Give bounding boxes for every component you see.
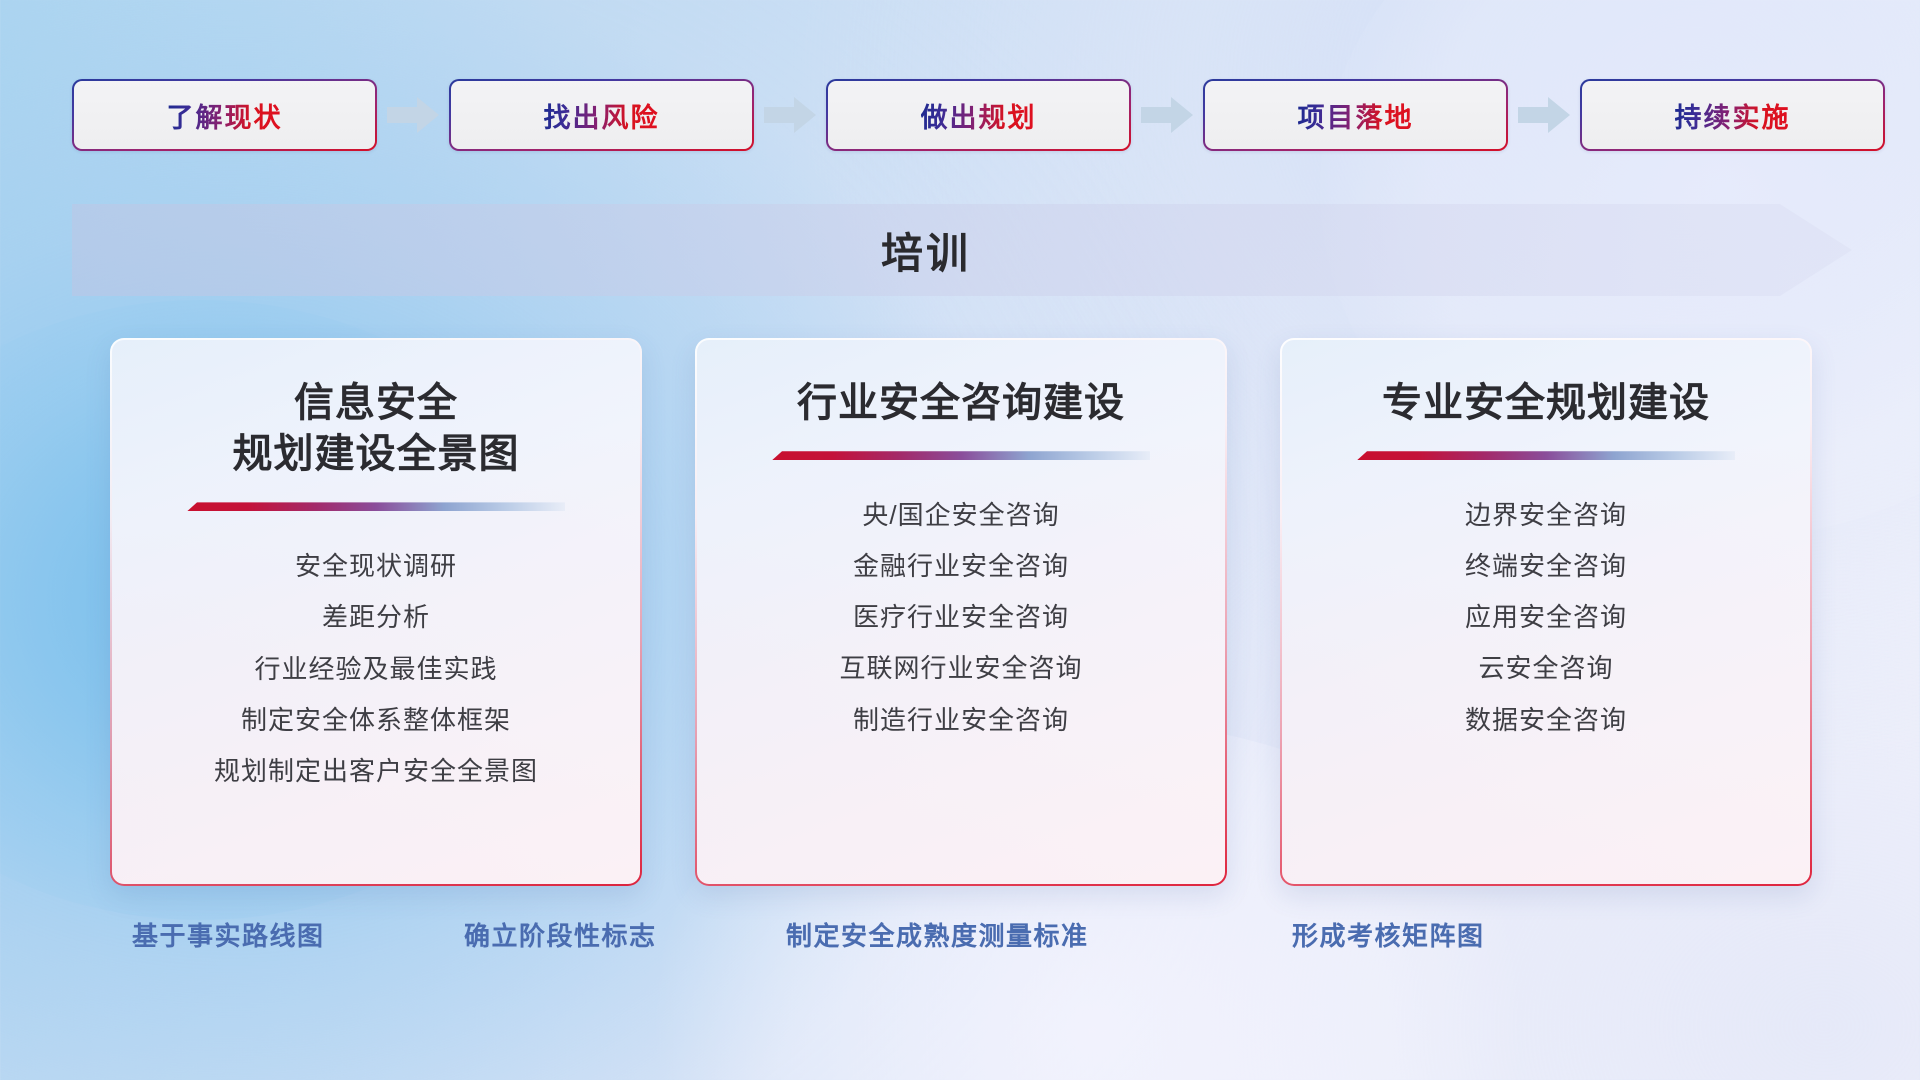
card-info-security-blueprint[interactable]: 信息安全 规划建设全景图 安全现状调研 差距分析 行业经验及最佳实践 制定安全体… xyxy=(110,338,642,886)
card-3-inner: 专业安全规划建设 边界安全咨询 终端安全咨询 应用安全咨询 云安全咨询 数据安全… xyxy=(1282,340,1810,884)
card-2-title: 行业安全咨询建设 xyxy=(797,378,1125,429)
card-3-divider xyxy=(1357,451,1735,460)
step-label-4: 项目落地 xyxy=(1298,96,1414,135)
list-item: 安全现状调研 xyxy=(295,549,457,584)
step-label-1: 了解现状 xyxy=(167,96,283,135)
list-item: 边界安全咨询 xyxy=(1465,498,1627,533)
list-item: 数据安全咨询 xyxy=(1465,703,1627,738)
step-label-3: 做出规划 xyxy=(921,96,1037,135)
footer-label-row: 基于事实路线图 确立阶段性标志 制定安全成熟度测量标准 形成考核矩阵图 xyxy=(0,916,1920,966)
list-item: 医疗行业安全咨询 xyxy=(853,600,1069,635)
list-item: 差距分析 xyxy=(322,600,430,635)
footer-label-4: 形成考核矩阵图 xyxy=(1292,916,1485,953)
list-item: 云安全咨询 xyxy=(1478,651,1613,686)
card-3-list: 边界安全咨询 终端安全咨询 应用安全咨询 云安全咨询 数据安全咨询 xyxy=(1465,498,1627,737)
list-item: 规划制定出客户安全全景图 xyxy=(214,754,538,789)
list-item: 金融行业安全咨询 xyxy=(853,549,1069,584)
step-box-5[interactable]: 持续实施 xyxy=(1580,79,1885,151)
list-item: 应用安全咨询 xyxy=(1465,600,1627,635)
card-1-inner: 信息安全 规划建设全景图 安全现状调研 差距分析 行业经验及最佳实践 制定安全体… xyxy=(112,340,640,884)
right-arrow-icon xyxy=(1516,95,1572,135)
step-label-2: 找出风险 xyxy=(544,96,660,135)
list-item: 行业经验及最佳实践 xyxy=(254,652,497,687)
card-2-divider xyxy=(772,451,1150,460)
step-box-5-inner: 持续实施 xyxy=(1582,81,1883,149)
list-item: 制定安全体系整体框架 xyxy=(241,703,511,738)
list-item: 互联网行业安全咨询 xyxy=(839,651,1082,686)
step-label-5: 持续实施 xyxy=(1675,96,1791,135)
right-arrow-icon xyxy=(385,95,441,135)
card-2-inner: 行业安全咨询建设 央/国企安全咨询 金融行业安全咨询 医疗行业安全咨询 互联网行… xyxy=(697,340,1225,884)
card-industry-security-consulting[interactable]: 行业安全咨询建设 央/国企安全咨询 金融行业安全咨询 医疗行业安全咨询 互联网行… xyxy=(695,338,1227,886)
step-box-4-inner: 项目落地 xyxy=(1205,81,1506,149)
footer-label-2: 确立阶段性标志 xyxy=(464,916,657,953)
list-item: 央/国企安全咨询 xyxy=(862,498,1059,533)
card-1-divider xyxy=(187,502,565,511)
right-arrow-icon xyxy=(762,95,818,135)
process-step-row: 了解现状 找出风险 做出规划 项目落地 xyxy=(72,79,1852,151)
footer-label-1: 基于事实路线图 xyxy=(132,916,325,953)
step-box-2-inner: 找出风险 xyxy=(451,81,752,149)
card-1-title: 信息安全 规划建设全景图 xyxy=(233,378,520,480)
footer-label-3: 制定安全成熟度测量标准 xyxy=(786,916,1089,953)
step-box-1[interactable]: 了解现状 xyxy=(72,79,377,151)
list-item: 制造行业安全咨询 xyxy=(853,703,1069,738)
step-box-3-inner: 做出规划 xyxy=(828,81,1129,149)
card-professional-security-planning[interactable]: 专业安全规划建设 边界安全咨询 终端安全咨询 应用安全咨询 云安全咨询 数据安全… xyxy=(1280,338,1812,886)
step-box-1-inner: 了解现状 xyxy=(74,81,375,149)
step-box-3[interactable]: 做出规划 xyxy=(826,79,1131,151)
card-2-list: 央/国企安全咨询 金融行业安全咨询 医疗行业安全咨询 互联网行业安全咨询 制造行… xyxy=(839,498,1082,737)
banner-title: 培训 xyxy=(72,204,1852,296)
card-1-list: 安全现状调研 差距分析 行业经验及最佳实践 制定安全体系整体框架 规划制定出客户… xyxy=(214,549,538,788)
step-box-2[interactable]: 找出风险 xyxy=(449,79,754,151)
list-item: 终端安全咨询 xyxy=(1465,549,1627,584)
right-arrow-icon xyxy=(1139,95,1195,135)
card-row: 信息安全 规划建设全景图 安全现状调研 差距分析 行业经验及最佳实践 制定安全体… xyxy=(110,338,1812,886)
training-banner: 培训 xyxy=(72,204,1852,296)
step-box-4[interactable]: 项目落地 xyxy=(1203,79,1508,151)
card-3-title: 专业安全规划建设 xyxy=(1382,378,1710,429)
